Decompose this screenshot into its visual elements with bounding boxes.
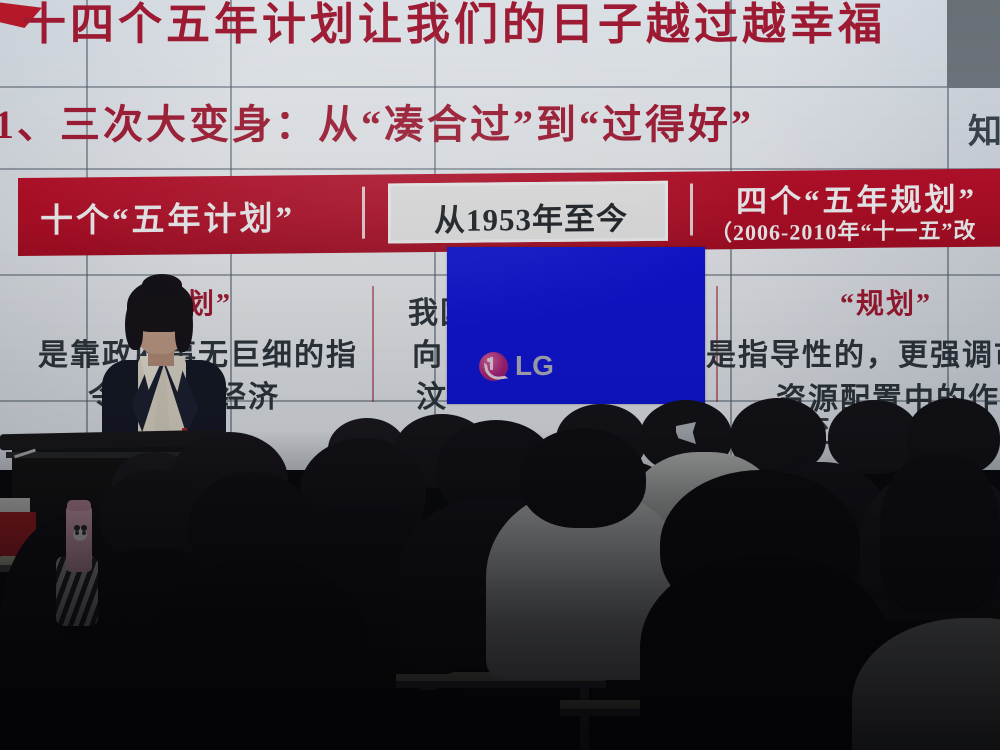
classroom-photo: 十四个五年计划让我们的日子越过越幸福 1、三次大变身：从“凑合过”到“过得好” …	[0, 0, 1000, 750]
photo-color-grade	[0, 0, 1000, 750]
